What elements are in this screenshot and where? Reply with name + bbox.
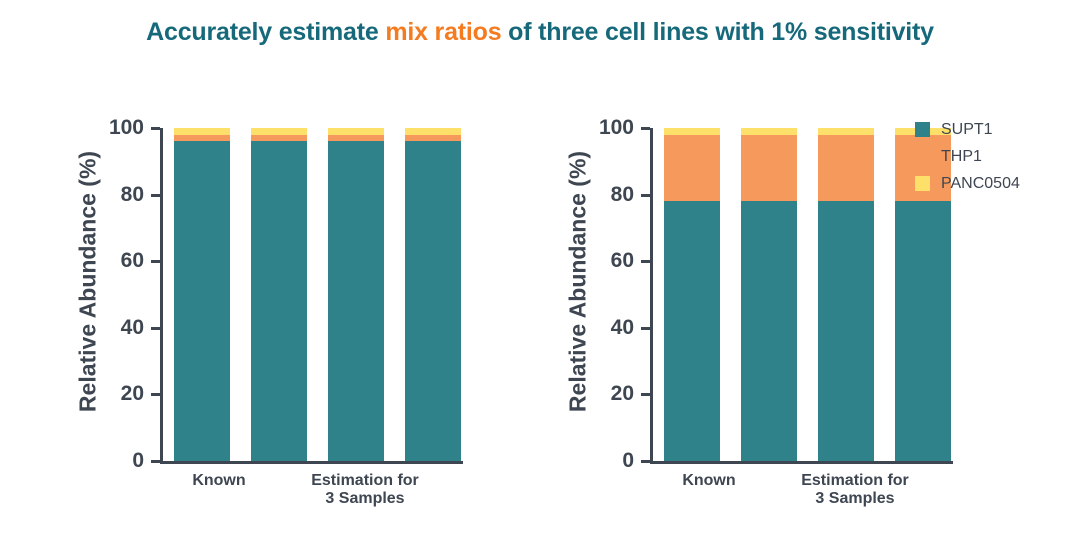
y-axis-tick-label: 40 [84, 317, 144, 338]
x-label-estimation: Estimation for 3 Samples [276, 472, 454, 509]
legend-swatch-icon [915, 149, 930, 164]
bar-segment-supt1 [664, 201, 720, 461]
y-axis-tick-label: 0 [84, 450, 144, 471]
y-axis-tick [151, 393, 160, 396]
y-axis-tick-label: 0 [574, 450, 634, 471]
y-axis-tick [641, 393, 650, 396]
y-axis-line [650, 128, 653, 462]
bar-known [174, 128, 230, 461]
y-axis-tick [641, 127, 650, 130]
bar-segment-panc0504 [174, 128, 230, 135]
y-axis-tick-label: 80 [574, 184, 634, 205]
x-label-estimation: Estimation for 3 Samples [766, 472, 944, 509]
y-axis-tick [151, 327, 160, 330]
bar-segment-panc0504 [664, 128, 720, 135]
bar-sample-1 [251, 128, 307, 461]
y-axis-tick-label: 60 [84, 250, 144, 271]
bar-segment-thp1 [818, 135, 874, 202]
legend-label: SUPT1 [941, 121, 993, 139]
bar-segment-supt1 [405, 141, 461, 461]
bar-segment-supt1 [895, 201, 951, 461]
y-axis-tick [151, 260, 160, 263]
y-axis-tick-label: 20 [574, 383, 634, 404]
x-label-known: Known [164, 472, 274, 490]
page-title: Accurately estimate mix ratios of three … [0, 18, 1080, 47]
legend-swatch-icon [915, 122, 930, 137]
bar-sample-2 [328, 128, 384, 461]
bar-segment-panc0504 [741, 128, 797, 135]
chart-legend: SUPT1THP1PANC0504 [915, 118, 1075, 199]
bar-known [664, 128, 720, 461]
legend-item-panc0504[interactable]: PANC0504 [915, 172, 1075, 195]
x-axis-labels-right: Known Estimation for 3 Samples [650, 472, 960, 532]
x-label-estimation-line2: 3 Samples [815, 490, 894, 507]
y-axis-tick [641, 194, 650, 197]
x-label-estimation-line1: Estimation for [311, 472, 419, 489]
bar-segment-supt1 [741, 201, 797, 461]
y-axis-tick-label: 20 [84, 383, 144, 404]
bar-segment-supt1 [251, 141, 307, 461]
y-axis-tick [151, 460, 160, 463]
bar-segment-thp1 [174, 135, 230, 142]
page-title-part1: Accurately estimate [146, 18, 385, 46]
bar-segment-thp1 [405, 135, 461, 142]
x-axis-line [160, 461, 463, 464]
bar-segment-thp1 [251, 135, 307, 142]
y-axis-tick-label: 60 [574, 250, 634, 271]
bar-group-right [664, 128, 950, 461]
bar-segment-panc0504 [818, 128, 874, 135]
y-axis-line [160, 128, 163, 462]
y-axis-tick [641, 327, 650, 330]
y-axis-tick [151, 194, 160, 197]
x-label-known: Known [654, 472, 764, 490]
x-axis-labels-left: Known Estimation for 3 Samples [160, 472, 470, 532]
bar-segment-thp1 [741, 135, 797, 202]
bar-segment-supt1 [174, 141, 230, 461]
legend-label: PANC0504 [941, 175, 1020, 193]
bar-sample-3 [405, 128, 461, 461]
y-axis-tick [641, 260, 650, 263]
y-axis-tick [151, 127, 160, 130]
bar-group-left [174, 128, 460, 461]
chart-panel-left: Relative Abundance (%) 100806040200 Know… [30, 100, 500, 535]
legend-item-supt1[interactable]: SUPT1 [915, 118, 1075, 141]
bar-sample-1 [741, 128, 797, 461]
legend-label: THP1 [941, 148, 982, 166]
bar-segment-supt1 [818, 201, 874, 461]
page-title-part2: of three cell lines with 1% sensitivity [501, 18, 933, 46]
legend-swatch-icon [915, 176, 930, 191]
x-label-estimation-line2: 3 Samples [325, 490, 404, 507]
legend-item-thp1[interactable]: THP1 [915, 145, 1075, 168]
bar-segment-panc0504 [328, 128, 384, 135]
x-label-estimation-line1: Estimation for [801, 472, 909, 489]
y-axis-tick-label: 40 [574, 317, 634, 338]
y-axis-tick-label: 80 [84, 184, 144, 205]
bar-segment-panc0504 [405, 128, 461, 135]
y-axis-tick [641, 460, 650, 463]
bar-segment-thp1 [664, 135, 720, 202]
bar-segment-supt1 [328, 141, 384, 461]
bar-sample-2 [818, 128, 874, 461]
bar-segment-panc0504 [251, 128, 307, 135]
x-axis-line [650, 461, 953, 464]
bar-segment-thp1 [328, 135, 384, 142]
page-title-highlight: mix ratios [385, 18, 501, 46]
y-axis-tick-label: 100 [84, 117, 144, 138]
y-axis-tick-label: 100 [574, 117, 634, 138]
plot-area-right: 100806040200 [650, 128, 950, 461]
plot-area-left: 100806040200 [160, 128, 460, 461]
